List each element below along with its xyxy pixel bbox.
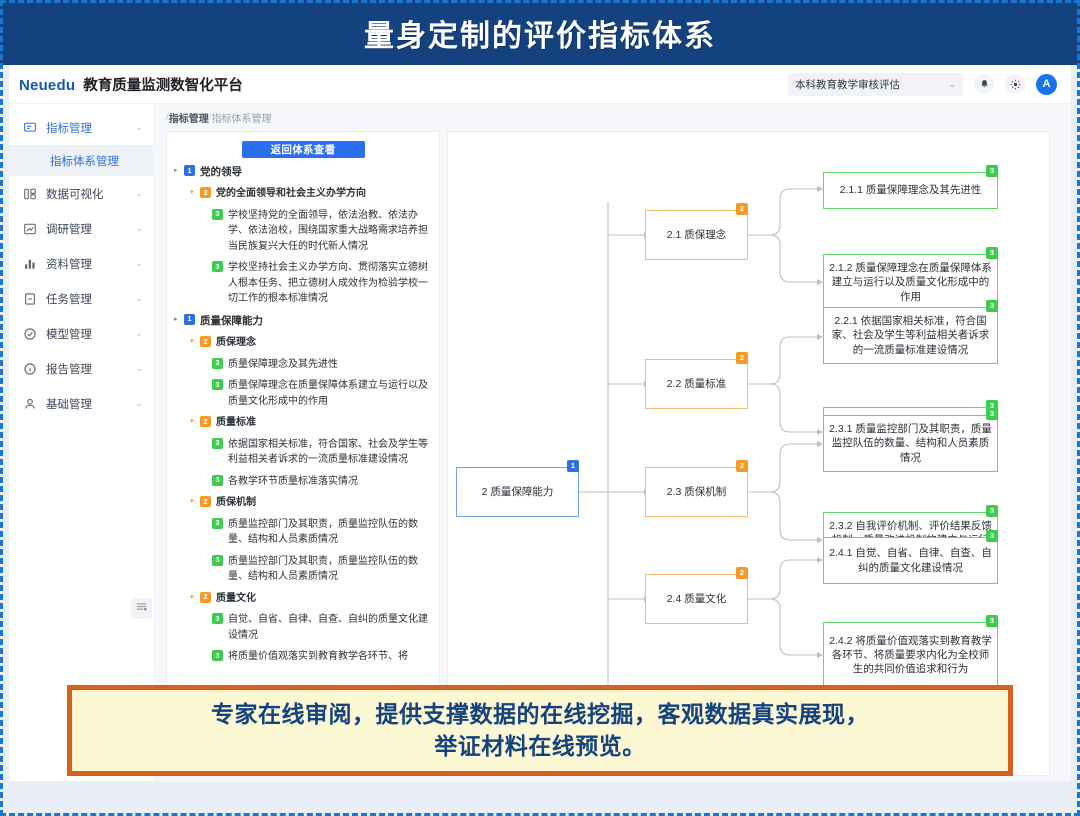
page-title: 量身定制的评价指标体系 bbox=[364, 11, 716, 55]
mindmap-node-2-4-1[interactable]: 2.4.1 自觉、自省、自律、自查、自纠的质量文化建设情况 3 bbox=[823, 537, 998, 584]
bar-chart-icon bbox=[23, 257, 37, 271]
app-body: 指标管理 ⌄ 指标体系管理 数据可视化 ⌄ bbox=[9, 104, 1071, 781]
dashboard-icon bbox=[23, 187, 37, 201]
chevron-right-icon[interactable]: ▸ bbox=[174, 313, 184, 326]
tree-node-label: 质量文化 bbox=[216, 591, 256, 607]
sidebar-collapse-handle[interactable] bbox=[131, 598, 152, 619]
level-badge: 3 bbox=[986, 505, 998, 517]
neuedu-logo: Neuedu bbox=[19, 77, 75, 94]
mindmap-node-2-3[interactable]: 2.3 质保机制 2 bbox=[645, 467, 748, 517]
level-badge: 1 bbox=[567, 460, 579, 472]
project-select-value: 本科教育教学审核评估 bbox=[795, 77, 900, 92]
app-header: Neuedu 教育质量监测数智化平台 本科教育教学审核评估 ⌄ bbox=[9, 65, 1071, 104]
level-badge: 3 bbox=[212, 518, 223, 529]
tree-node-label: 质量监控部门及其职责，质量监控队伍的数量、结构和人员素质情况 bbox=[228, 554, 428, 585]
tree-node[interactable]: 3 质量保障理念及其先进性 bbox=[174, 357, 432, 373]
tree-node[interactable]: ▾ 2 质量文化 bbox=[174, 591, 432, 607]
sidebar-item-report-management[interactable]: 报告管理 ⌄ bbox=[9, 351, 153, 386]
level-badge: 1 bbox=[184, 165, 195, 176]
mindmap-node-2-1-1[interactable]: 2.1.1 质量保障理念及其先进性 3 bbox=[823, 172, 998, 209]
level-badge: 2 bbox=[200, 496, 211, 507]
brand: Neuedu 教育质量监测数智化平台 bbox=[19, 74, 243, 95]
chevron-down-icon[interactable]: ▾ bbox=[190, 495, 200, 508]
chevron-down-icon: ⌄ bbox=[135, 328, 143, 339]
level-badge: 3 bbox=[212, 379, 223, 390]
tree-node[interactable]: ▾ 2 质量标准 bbox=[174, 415, 432, 431]
sidebar-item-label: 数据可视化 bbox=[46, 186, 104, 202]
sidebar-item-label: 调研管理 bbox=[46, 221, 92, 237]
sidebar-item-label: 资料管理 bbox=[46, 256, 92, 272]
survey-icon bbox=[23, 222, 37, 236]
tree-node-label: 党的领导 bbox=[200, 164, 242, 180]
tree-node-label: 依据国家相关标准，符合国家、社会及学生等利益相关者诉求的一流质量标准建设情况 bbox=[228, 437, 428, 468]
mindmap-node-label: 2.2 质量标准 bbox=[667, 377, 727, 391]
sidebar-item-label: 报告管理 bbox=[46, 361, 92, 377]
notification-button[interactable] bbox=[974, 74, 994, 94]
chevron-down-icon: ⌄ bbox=[135, 188, 143, 199]
tree-node[interactable]: ▾ 2 党的全面领导和社会主义办学方向 bbox=[174, 186, 432, 202]
content-scrollbar[interactable] bbox=[1065, 131, 1071, 776]
sidebar-item-material-management[interactable]: 资料管理 ⌄ bbox=[9, 246, 153, 281]
sidebar-item-model-management[interactable]: 模型管理 ⌄ bbox=[9, 316, 153, 351]
level-badge: 3 bbox=[986, 530, 998, 542]
sidebar-item-basic-management[interactable]: 基础管理 ⌄ bbox=[9, 386, 153, 421]
tree-node-label: 党的全面领导和社会主义办学方向 bbox=[216, 186, 366, 202]
tree-node-label: 质量监控部门及其职责，质量监控队伍的数量、结构和人员素质情况 bbox=[228, 517, 428, 548]
collapse-panel-icon bbox=[135, 600, 148, 618]
tree-node[interactable]: 3 自觉、自省、自律、自查、自纠的质量文化建设情况 bbox=[174, 612, 432, 643]
app-window: Neuedu 教育质量监测数智化平台 本科教育教学审核评估 ⌄ bbox=[9, 65, 1071, 781]
level-badge: 2 bbox=[736, 203, 748, 215]
tree-node-label: 将质量价值观落实到教育教学各环节、将 bbox=[228, 649, 408, 665]
level-badge: 2 bbox=[736, 567, 748, 579]
chevron-right-icon[interactable]: ▸ bbox=[174, 164, 184, 177]
tree-node[interactable]: 3 学校坚持社会主义办学方向、贯彻落实立德树人根本任务、把立德树人成效作为检验学… bbox=[174, 260, 432, 307]
chevron-down-icon[interactable]: ▾ bbox=[190, 591, 200, 604]
breadcrumb: / 指标管理 / 指标体系管理 bbox=[153, 104, 1071, 131]
level-badge: 1 bbox=[184, 314, 195, 325]
mindmap-node-label: 2.1.1 质量保障理念及其先进性 bbox=[840, 183, 982, 197]
mindmap-node-label: 2.4 质量文化 bbox=[667, 592, 727, 606]
level-badge: 2 bbox=[200, 187, 211, 198]
sidebar-item-label: 指标管理 bbox=[46, 120, 92, 136]
level-badge: 2 bbox=[736, 460, 748, 472]
tree-node[interactable]: ▸ 1 质量保障能力 bbox=[174, 313, 432, 329]
sidebar-item-data-visualization[interactable]: 数据可视化 ⌄ bbox=[9, 176, 153, 211]
level-badge: 3 bbox=[986, 247, 998, 259]
sidebar: 指标管理 ⌄ 指标体系管理 数据可视化 ⌄ bbox=[9, 104, 153, 781]
tree-node[interactable]: ▾ 2 质保机制 bbox=[174, 495, 432, 511]
mindmap-node-label: 2.1 质保理念 bbox=[667, 228, 727, 242]
mindmap-node-2-2[interactable]: 2.2 质量标准 2 bbox=[645, 359, 748, 409]
mindmap-node-label: 2.3.1 质量监控部门及其职责，质量监控队伍的数量、结构和人员素质情况 bbox=[828, 422, 993, 465]
panels: 返回体系查看 ▸ 1 党的领导 ▾ 2 党的全面领导和社会主义办学方向 bbox=[166, 131, 1050, 776]
chevron-down-icon[interactable]: ▾ bbox=[190, 415, 200, 428]
bell-icon bbox=[979, 79, 990, 90]
tree-node-label: 各教学环节质量标准落实情况 bbox=[228, 474, 358, 490]
sidebar-item-indicator-management[interactable]: 指标管理 ⌄ bbox=[9, 110, 153, 145]
mindmap-node-2-3-1[interactable]: 2.3.1 质量监控部门及其职责，质量监控队伍的数量、结构和人员素质情况 3 bbox=[823, 415, 998, 472]
level-badge: 3 bbox=[212, 555, 223, 566]
user-icon bbox=[23, 397, 37, 411]
level-badge: 3 bbox=[212, 358, 223, 369]
avatar[interactable]: A bbox=[1036, 74, 1057, 95]
tree-node[interactable]: ▸ 1 党的领导 bbox=[174, 164, 432, 180]
brightness-icon bbox=[1010, 79, 1021, 90]
tree-node[interactable]: ▾ 2 质保理念 bbox=[174, 335, 432, 351]
content-area: / 指标管理 / 指标体系管理 返回体系查看 ▸ 1 党的领导 bbox=[153, 104, 1071, 781]
tree-node[interactable]: 3 质量监控部门及其职责，质量监控队伍的数量、结构和人员素质情况 bbox=[174, 554, 432, 585]
chevron-down-icon[interactable]: ▾ bbox=[190, 186, 200, 199]
level-badge: 2 bbox=[736, 352, 748, 364]
tree-node-label: 学校坚持社会主义办学方向、贯彻落实立德树人根本任务、把立德树人成效作为检验学校一… bbox=[228, 260, 428, 307]
level-badge: 3 bbox=[212, 475, 223, 486]
callout-box: 专家在线审阅，提供支撑数据的在线挖掘，客观数据真实展现， 举证材料在线预览。 bbox=[67, 685, 1013, 776]
chevron-down-icon: ⌄ bbox=[948, 79, 956, 90]
tree-node[interactable]: 3 学校坚持党的全面领导，依法治教、依法办学、依法治校，围绕国家重大战略需求培养… bbox=[174, 208, 432, 255]
tree-node-label: 质量保障理念在质量保障体系建立与运行以及质量文化形成中的作用 bbox=[228, 378, 428, 409]
tree-node-label: 质量标准 bbox=[216, 415, 256, 431]
mindmap-node-2-4[interactable]: 2.4 质量文化 2 bbox=[645, 574, 748, 624]
mindmap-node-2-4-2[interactable]: 2.4.2 将质量价值观落实到教育教学各环节、将质量要求内化为全校师生的共同价值… bbox=[823, 622, 998, 688]
tree-node-label: 质量保障能力 bbox=[200, 313, 263, 329]
return-to-system-view-button[interactable]: 返回体系查看 bbox=[242, 141, 365, 158]
sidebar-item-task-management[interactable]: 任务管理 ⌄ bbox=[9, 281, 153, 316]
chevron-down-icon: ⌄ bbox=[135, 223, 143, 234]
theme-toggle-button[interactable] bbox=[1005, 74, 1025, 94]
level-badge: 2 bbox=[200, 592, 211, 603]
breadcrumb-parent[interactable]: 指标管理 bbox=[169, 110, 209, 125]
tree-node-label: 质保机制 bbox=[216, 495, 256, 511]
tree-node[interactable]: 3 将质量价值观落实到教育教学各环节、将 bbox=[174, 649, 432, 665]
mindmap-node-label: 2.1.2 质量保障理念在质量保障体系建立与运行以及质量文化形成中的作用 bbox=[828, 261, 993, 304]
sidebar-item-label: 模型管理 bbox=[46, 326, 92, 342]
task-icon bbox=[23, 292, 37, 306]
level-badge: 3 bbox=[986, 300, 998, 312]
chevron-down-icon[interactable]: ▾ bbox=[190, 335, 200, 348]
tree-node-label: 自觉、自省、自律、自查、自纠的质量文化建设情况 bbox=[228, 612, 428, 643]
tree-node-label: 学校坚持党的全面领导，依法治教、依法办学、依法治校，围绕国家重大战略需求培养担当… bbox=[228, 208, 428, 255]
tree-node[interactable]: 3 各教学环节质量标准落实情况 bbox=[174, 474, 432, 490]
level-badge: 3 bbox=[212, 438, 223, 449]
chevron-down-icon: ⌄ bbox=[135, 363, 143, 374]
level-badge: 3 bbox=[986, 615, 998, 627]
mindmap-node-label: 2.4.1 自觉、自省、自律、自查、自纠的质量文化建设情况 bbox=[828, 546, 993, 574]
mindmap-node-2-1[interactable]: 2.1 质保理念 2 bbox=[645, 210, 748, 260]
chevron-down-icon: ⌄ bbox=[135, 398, 143, 409]
level-badge: 3 bbox=[986, 165, 998, 177]
mindmap-root-node[interactable]: 2 质量保障能力 1 bbox=[456, 467, 579, 517]
check-circle-icon bbox=[23, 327, 37, 341]
level-badge: 2 bbox=[200, 336, 211, 347]
breadcrumb-current: 指标体系管理 bbox=[212, 110, 272, 125]
sidebar-item-survey-management[interactable]: 调研管理 ⌄ bbox=[9, 211, 153, 246]
mindmap-node-label: 2.2.1 依据国家相关标准，符合国家、社会及学生等利益相关者诉求的一流质量标准… bbox=[828, 314, 993, 357]
indicator-tree: ▸ 1 党的领导 ▾ 2 党的全面领导和社会主义办学方向 3 学校坚持党的全面领… bbox=[174, 164, 432, 665]
header-actions: 本科教育教学审核评估 ⌄ A bbox=[788, 73, 1057, 96]
platform-name: 教育质量监测数智化平台 bbox=[83, 74, 243, 95]
mindmap-node-label: 2 质量保障能力 bbox=[482, 485, 554, 499]
project-select[interactable]: 本科教育教学审核评估 ⌄ bbox=[788, 73, 963, 96]
level-badge: 2 bbox=[200, 416, 211, 427]
monitor-icon bbox=[23, 121, 37, 135]
mindmap-node-label: 2.4.2 将质量价值观落实到教育教学各环节、将质量要求内化为全校师生的共同价值… bbox=[828, 634, 993, 677]
info-circle-icon bbox=[23, 362, 37, 376]
tree-node[interactable]: 3 质量监控部门及其职责，质量监控队伍的数量、结构和人员素质情况 bbox=[174, 517, 432, 548]
level-badge: 3 bbox=[212, 613, 223, 624]
mindmap-node-label: 2.3 质保机制 bbox=[667, 485, 727, 499]
slide-title-banner: 量身定制的评价指标体系 bbox=[0, 0, 1080, 65]
mindmap-panel[interactable]: 2 质量保障能力 1 2.1 质保理念 2 2.2 质量标准 2 2.3 质保机… bbox=[447, 131, 1050, 776]
chevron-down-icon: ⌄ bbox=[135, 293, 143, 304]
tree-node-label: 质保理念 bbox=[216, 335, 256, 351]
tree-node[interactable]: 3 质量保障理念在质量保障体系建立与运行以及质量文化形成中的作用 bbox=[174, 378, 432, 409]
callout-line-2: 举证材料在线预览。 bbox=[434, 731, 646, 762]
chevron-down-icon: ⌄ bbox=[135, 258, 143, 269]
callout-line-1: 专家在线审阅，提供支撑数据的在线挖掘，客观数据真实展现， bbox=[211, 699, 869, 730]
level-badge: 3 bbox=[212, 650, 223, 661]
chevron-down-icon: ⌄ bbox=[135, 122, 143, 133]
level-badge: 3 bbox=[212, 261, 223, 272]
sidebar-item-label: 任务管理 bbox=[46, 291, 92, 307]
sidebar-subitem-indicator-system[interactable]: 指标体系管理 bbox=[9, 145, 153, 176]
mindmap-node-2-2-1[interactable]: 2.2.1 依据国家相关标准，符合国家、社会及学生等利益相关者诉求的一流质量标准… bbox=[823, 307, 998, 364]
level-badge: 3 bbox=[986, 408, 998, 420]
sidebar-item-label: 基础管理 bbox=[46, 396, 92, 412]
tree-node[interactable]: 3 依据国家相关标准，符合国家、社会及学生等利益相关者诉求的一流质量标准建设情况 bbox=[174, 437, 432, 468]
level-badge: 3 bbox=[212, 209, 223, 220]
tree-node-label: 质量保障理念及其先进性 bbox=[228, 357, 338, 373]
mindmap-node-2-1-2[interactable]: 2.1.2 质量保障理念在质量保障体系建立与运行以及质量文化形成中的作用 3 bbox=[823, 254, 998, 311]
indicator-tree-panel: 返回体系查看 ▸ 1 党的领导 ▾ 2 党的全面领导和社会主义办学方向 bbox=[166, 131, 440, 776]
